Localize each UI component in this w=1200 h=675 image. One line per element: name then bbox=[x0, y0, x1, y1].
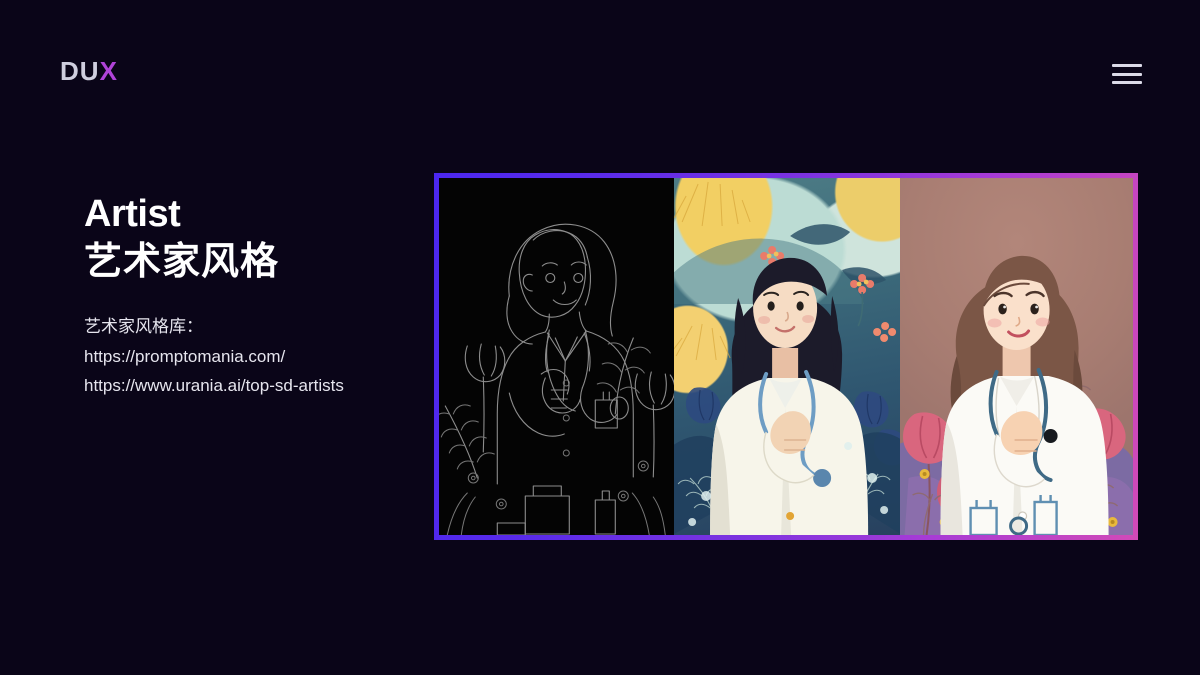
gallery-panel-teal-illustration[interactable] bbox=[674, 178, 900, 535]
body-line-url-2[interactable]: https://www.urania.ai/top-sd-artists bbox=[84, 371, 404, 400]
slide-root: DUX Artist 艺术家风格 艺术家风格库： https://prompto… bbox=[0, 0, 1200, 675]
mauve-illustration bbox=[900, 178, 1133, 535]
brand-logo[interactable]: DUX bbox=[60, 58, 118, 84]
gallery-panel-line-art[interactable] bbox=[439, 178, 674, 535]
menu-line-1 bbox=[1112, 64, 1142, 67]
menu-line-2 bbox=[1112, 73, 1142, 76]
text-column: Artist 艺术家风格 艺术家风格库： https://promptomani… bbox=[84, 192, 404, 400]
logo-text-accent: X bbox=[100, 56, 118, 86]
body-text: 艺术家风格库： https://promptomania.com/ https:… bbox=[84, 312, 404, 400]
menu-line-3 bbox=[1112, 81, 1142, 84]
image-gallery-frame bbox=[434, 173, 1138, 540]
body-line-url-1[interactable]: https://promptomania.com/ bbox=[84, 342, 404, 371]
gallery-panel-mauve-illustration[interactable] bbox=[900, 178, 1133, 535]
line-art-illustration bbox=[439, 178, 674, 535]
page-title-en: Artist bbox=[84, 192, 404, 237]
body-line-label: 艺术家风格库： bbox=[84, 312, 404, 341]
teal-illustration bbox=[674, 178, 900, 535]
image-panels bbox=[439, 178, 1133, 535]
logo-text-primary: DU bbox=[60, 56, 100, 86]
page-title-cn: 艺术家风格 bbox=[84, 239, 404, 287]
hamburger-menu-icon[interactable] bbox=[1112, 64, 1142, 84]
